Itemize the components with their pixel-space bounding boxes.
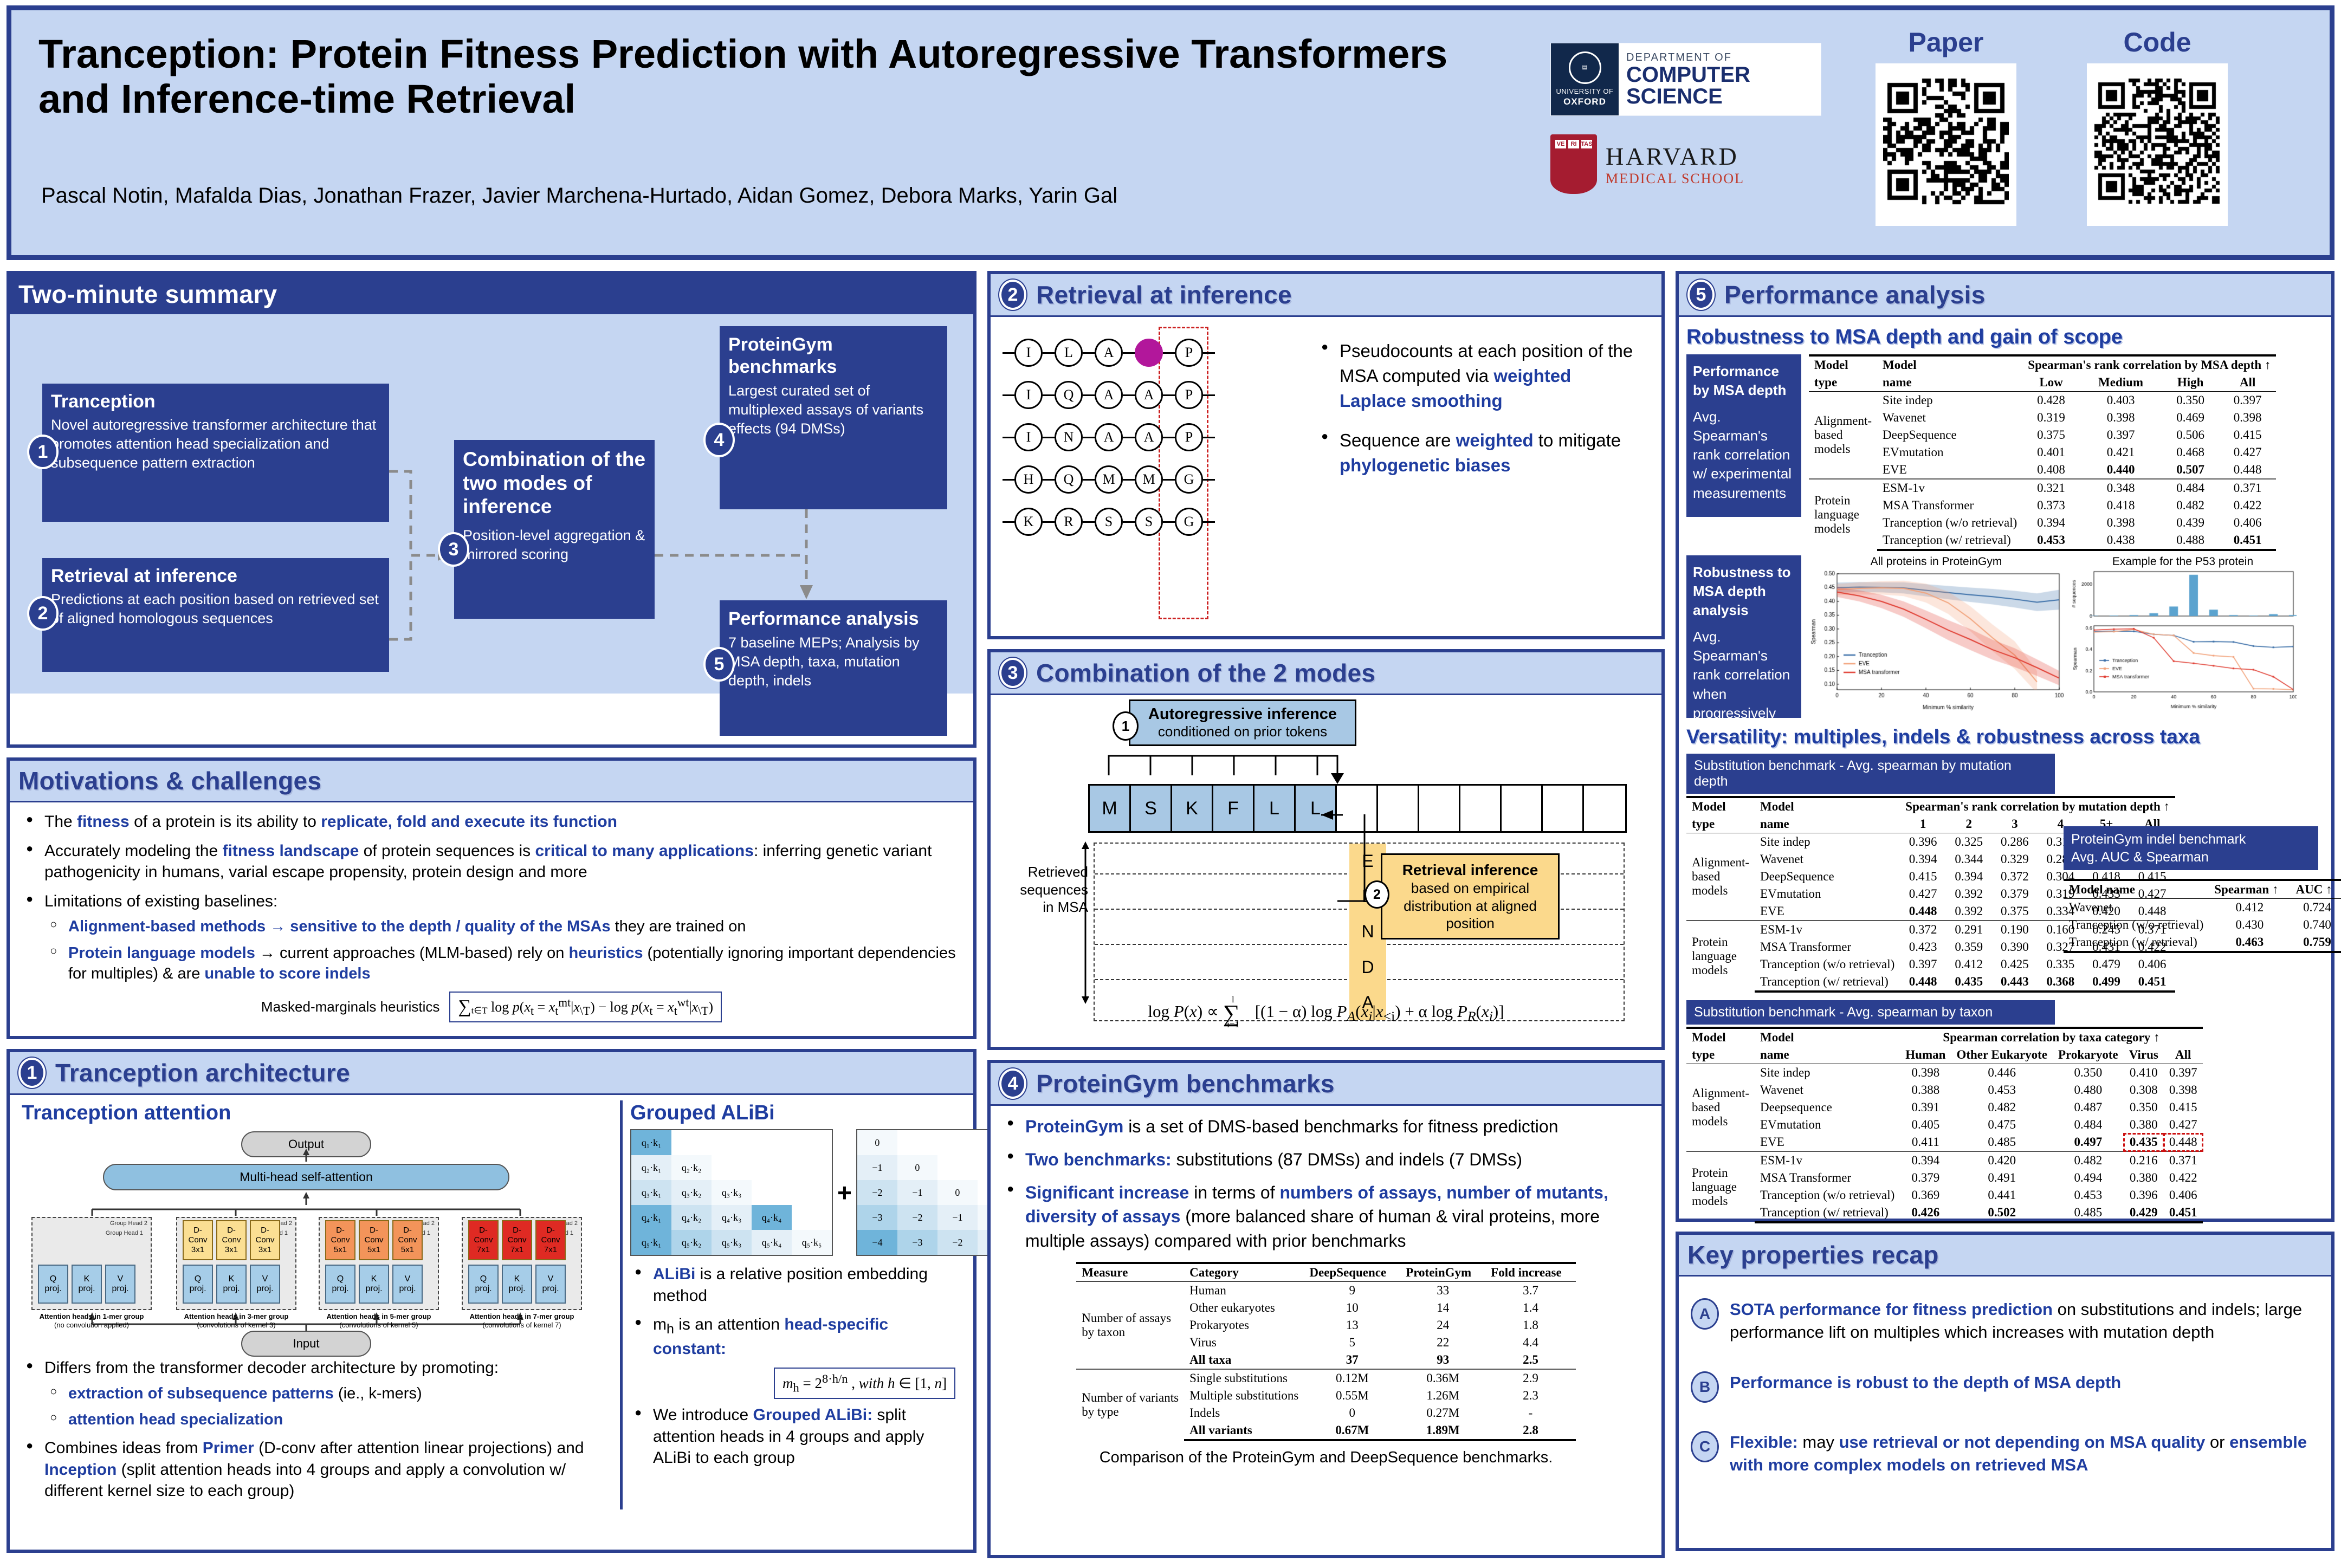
attention-head-column: D-Conv7x1K proj.: [502, 1220, 532, 1304]
cell-value: 0.325: [1946, 833, 1992, 851]
proteingym-badge: 4: [999, 1068, 1026, 1099]
msa-residue: A: [1095, 423, 1123, 451]
column-header: type: [1686, 815, 1755, 833]
attention-head-column: D-Conv7x1V proj.: [535, 1220, 566, 1304]
motivations-body: The fitness of a protein is its ability …: [10, 802, 973, 1031]
motivation-bullet: Accurately modeling the fitness landscap…: [22, 840, 961, 883]
cell-category: Other eukaryotes: [1184, 1299, 1304, 1317]
cell-model-name: Tranception (w/ retrieval): [1877, 532, 2022, 550]
attention-heads: D-Conv5x1Q proj.D-Conv5x1K proj.D-Conv5x…: [325, 1220, 423, 1304]
autoregressive-arrow-icon: [991, 747, 1630, 785]
column-header: DeepSequence: [1304, 1263, 1400, 1282]
oxford-line3: SCIENCE: [1626, 86, 1813, 107]
sequence-link: [1083, 521, 1095, 523]
cell-value: 3.7: [1485, 1281, 1576, 1299]
matrix-cell: q₃·k₁: [631, 1180, 671, 1205]
cell-value: 0.439: [2162, 514, 2219, 532]
cell-model-name: Wavenet: [2064, 899, 2209, 917]
cell-value: 0.27M: [1400, 1404, 1485, 1422]
middle-column: 2 Retrieval at inference ILAPIQAAPINAAPH…: [987, 271, 1665, 1568]
aligned-residue: N: [1361, 922, 1374, 942]
cell-model-name: MSA Transformer: [1755, 938, 1900, 956]
alibi-matrices: q₁·k₁q₂·k₁q₂·k₂q₃·k₁q₃·k₂q₃·k₃q₄·k₁q₄·k₂…: [630, 1129, 955, 1256]
summary-box-5: Performance analysis 7 baseline MEPs; An…: [720, 600, 947, 736]
attention-head-column: D-Conv5x1Q proj.: [325, 1220, 355, 1304]
cell-category: All taxa: [1184, 1351, 1304, 1369]
sequence-link: [1003, 479, 1014, 481]
motivation-subbullet: Alignment-based methods → sensitive to t…: [44, 916, 961, 937]
cell-value: 0.405: [1900, 1116, 1951, 1133]
cell-value: 0.468: [2162, 444, 2219, 461]
architecture-bullets: Differs from the transformer decoder arc…: [22, 1357, 612, 1502]
autoregressive-callout-desc: conditioned on prior tokens: [1138, 723, 1347, 740]
cell-value: 0.397: [2080, 426, 2162, 444]
row-group-label: Alignment-basedmodels: [1686, 1064, 1755, 1152]
qr-code-block[interactable]: Code: [2087, 27, 2228, 226]
combination-badge: 3: [999, 658, 1026, 688]
recap-text: Performance is robust to the depth of MS…: [1730, 1371, 2121, 1394]
cell-value: 0.506: [2162, 426, 2219, 444]
architecture-bullet-1: Differs from the transformer decoder arc…: [22, 1357, 612, 1430]
cell-value: 0.397: [1900, 956, 1946, 973]
matrix-cell: [752, 1155, 792, 1180]
cell-value: 0.427: [1900, 885, 1946, 903]
alibi-qk-matrix: q₁·k₁q₂·k₁q₂·k₂q₃·k₁q₃·k₂q₃·k₃q₄·k₁q₄·k₂…: [630, 1129, 833, 1256]
chart-all-proteins: All proteins in ProteinGym: [1809, 555, 2064, 718]
matrix-cell: q₄·k₄: [752, 1205, 792, 1230]
cell-value: 0.394: [1946, 868, 1992, 885]
column-header: Model: [1755, 1028, 1900, 1046]
matrix-cell: [671, 1130, 712, 1155]
msa-depth-side-label: Performance by MSA depth Avg. Spearman's…: [1686, 354, 1801, 517]
dconv-block: D-Conv3x1: [250, 1220, 280, 1260]
matrix-cell: q₄·k₃: [712, 1205, 752, 1230]
cell-value: 22: [1400, 1334, 1485, 1351]
autoregressive-callout-badge: 1: [1113, 711, 1139, 741]
projection-block: V proj.: [250, 1265, 280, 1304]
summary-box-3: Combination of the two modes of inferenc…: [454, 440, 655, 619]
dconv-block: D-Conv5x1: [325, 1220, 355, 1260]
summary-box-3-desc: Position-level aggregation & mirrored sc…: [463, 526, 646, 564]
row-group-label: Proteinlanguagemodels: [1809, 479, 1877, 550]
cell-value: 0.373: [2022, 497, 2080, 514]
proteingym-caption: Comparison of the ProteinGym and DeepSeq…: [1003, 1449, 1650, 1467]
msa-residue: M: [1135, 465, 1163, 494]
cell-value: 0.427: [2219, 444, 2277, 461]
cell-value: 0.488: [2162, 532, 2219, 550]
summary-box-2-desc: Predictions at each position based on re…: [51, 590, 380, 628]
cell-value: 1.4: [1485, 1299, 1576, 1317]
alibi-bullet: We introduce Grouped ALiBi: split attent…: [630, 1404, 955, 1469]
cell-value: 0.482: [2162, 497, 2219, 514]
attention-group-caption: Attention heads in 5-mer group(convoluti…: [319, 1312, 439, 1330]
chart-p53-canvas: [2069, 568, 2297, 714]
architecture-left-subtitle: Tranception attention: [22, 1102, 612, 1125]
sequence-link: [1003, 437, 1014, 438]
cell-value: 0.448: [2219, 461, 2277, 479]
panel-combination: 3 Combination of the 2 modes Autoregress…: [987, 649, 1665, 1050]
architecture-divider: [620, 1100, 623, 1509]
summary-box-1-title: Tranception: [51, 391, 380, 412]
dconv-block: D-Conv7x1: [502, 1220, 532, 1260]
architecture-badge: 1: [18, 1058, 46, 1088]
msa-sequence-row: IQAAP: [1003, 381, 1306, 409]
taxon-caption: Substitution benchmark - Avg. spearman b…: [1686, 1000, 2055, 1025]
qr-paper-block[interactable]: Paper: [1876, 27, 2016, 226]
matrix-cell: q₃·k₂: [671, 1180, 712, 1205]
projection-block: K proj.: [72, 1265, 102, 1304]
matrix-cell: q₂·k₂: [671, 1155, 712, 1180]
column-header: type: [1809, 374, 1877, 392]
cell-value: 0.321: [2022, 479, 2080, 497]
cell-value: 10: [1304, 1299, 1400, 1317]
matrix-cell: [712, 1155, 752, 1180]
qr-paper-code[interactable]: [1876, 63, 2016, 226]
attention-group-caption: Attention heads in 1-mer group(no convol…: [31, 1312, 152, 1330]
projection-block: Q proj.: [325, 1265, 355, 1304]
group-head-1-label: Group Head 1: [106, 1230, 143, 1236]
cell-value: 0.379: [1992, 885, 2038, 903]
sequence-link: [1163, 521, 1175, 523]
retrieval-badge: 2: [999, 280, 1026, 310]
projection-block: V proj.: [392, 1265, 423, 1304]
msa-residue: G: [1175, 508, 1203, 536]
chart-p53: Example for the P53 protein: [2069, 555, 2297, 718]
cell-value: 0.441: [1951, 1187, 2053, 1204]
sequence-link: [1123, 437, 1135, 438]
matrix-cell: [712, 1130, 752, 1155]
indel-caption: ProteinGym indel benchmark Avg. AUC & Sp…: [2064, 826, 2318, 870]
combination-title: Combination of the 2 modes: [1036, 658, 1375, 688]
attention-head-column: D-Conv3x1K proj.: [216, 1220, 247, 1304]
cell-value: 0.430: [2209, 916, 2290, 934]
cell-value: 0.398: [1900, 1064, 1951, 1082]
column-header: Model name: [2064, 880, 2209, 899]
msa-residue: P: [1175, 381, 1203, 409]
versatility-right: ProteinGym indel benchmark Avg. AUC & Sp…: [2064, 754, 2318, 1223]
cell-value: 2.9: [1485, 1369, 1576, 1387]
matrix-cell: q₅·k₅: [792, 1230, 832, 1255]
table-row: Tranception (w/ retrieval)0.4530.4380.48…: [1809, 532, 2276, 550]
cell-category: Human: [1184, 1281, 1304, 1299]
panel-retrieval: 2 Retrieval at inference ILAPIQAAPINAAPH…: [987, 271, 1665, 639]
table-row: Wavenet0.3190.3980.4690.398: [1809, 409, 2276, 426]
cell-value: 0.443: [1992, 973, 2038, 992]
architecture-subbullets: extraction of subsequence patterns (ie.,…: [44, 1383, 612, 1430]
attention-group-caption: Attention heads in 3-mer group(convoluti…: [176, 1312, 296, 1330]
retrieval-bullet: Pseudocounts at each position of the MSA…: [1317, 339, 1642, 414]
row-group-label: Number of assays by taxon: [1076, 1281, 1184, 1369]
cell-value: 5: [1304, 1334, 1400, 1351]
sequence-link: [1163, 479, 1175, 481]
proteingym-header: 4 ProteinGym benchmarks: [991, 1063, 1661, 1106]
attention-group-box: Group Head 2Group Head 1D-Conv3x1Q proj.…: [176, 1217, 296, 1310]
msa-residue: N: [1055, 423, 1083, 451]
cell-value: 13: [1304, 1317, 1400, 1334]
column-header: Medium: [2080, 374, 2162, 392]
alibi-formula: mh = 28·h/n , with h ∈ [1, n]: [774, 1368, 955, 1399]
table-row: MSA Transformer0.3730.4180.4820.422: [1809, 497, 2276, 514]
attention-head-column: D-Conv7x1Q proj.: [468, 1220, 499, 1304]
cell-value: 0.475: [1951, 1116, 2053, 1133]
sequence-link: [1083, 437, 1095, 438]
msa-sequence-row: KRSSG: [1003, 508, 1306, 536]
cell-value: 0.401: [2022, 444, 2080, 461]
sequence-link: [1123, 479, 1135, 481]
cell-value: 0.451: [2219, 532, 2277, 550]
cell-category: All variants: [1184, 1422, 1304, 1440]
msa-residue: R: [1055, 508, 1083, 536]
attention-head-column: D-Conv3x1V proj.: [250, 1220, 280, 1304]
projection-block: K proj.: [502, 1265, 532, 1304]
cell-value: 0.391: [1900, 1099, 1951, 1116]
sequence-link: [1163, 352, 1175, 354]
column-header: name: [1755, 1046, 1900, 1064]
attention-group-box: Group Head 2Group Head 1D-Conv7x1Q proj.…: [462, 1217, 582, 1310]
sequence-link: [1043, 352, 1055, 354]
attention-group-box: Group Head 2Group Head 1D-Conv5x1Q proj.…: [319, 1217, 439, 1310]
matrix-cell: [792, 1155, 832, 1180]
cell-value: 0.392: [1946, 903, 1992, 921]
attention-head-column: D-Conv5x1K proj.: [359, 1220, 389, 1304]
summary-badge-3: 3: [438, 532, 469, 567]
cell-value: 0.12M: [1304, 1369, 1400, 1387]
autoregressive-callout: Autoregressive inference conditioned on …: [1129, 699, 1356, 746]
performance-badge: 5: [1687, 280, 1715, 310]
panel-recap: Key properties recap ASOTA performance f…: [1676, 1232, 2334, 1551]
cell-value: 0.396: [1900, 833, 1946, 851]
summary-box-1: Tranception Novel autoregressive transfo…: [42, 384, 389, 522]
cell-model-name: ESM-1v: [1755, 921, 1900, 938]
cell-value: 0.440: [2080, 461, 2162, 479]
cell-value: 93: [1400, 1351, 1485, 1369]
msa-residue: Q: [1055, 465, 1083, 494]
cell-value: 0.394: [2022, 514, 2080, 532]
table-row: Tranception (w/o retrieval)0.4300.740: [2064, 916, 2341, 934]
cell-value: 0.359: [1946, 938, 1992, 956]
matrix-cell: q₅·k₂: [671, 1230, 712, 1255]
projection-block: Q proj.: [183, 1265, 213, 1304]
column-header: High: [2162, 374, 2219, 392]
cell-value: 0.724: [2290, 899, 2341, 917]
oxford-logo: ▤ UNIVERSITY OF OXFORD DEPARTMENT OF COM…: [1550, 43, 1821, 116]
table-row: ProteinlanguagemodelsESM-1v0.3210.3480.4…: [1809, 479, 2276, 497]
diagram-input-node: Input: [241, 1331, 371, 1357]
cell-category: Indels: [1184, 1404, 1304, 1422]
msa-residue: Q: [1055, 381, 1083, 409]
cell-model-name: Site indep: [1755, 833, 1900, 851]
panel-performance: 5 Performance analysis Robustness to MSA…: [1676, 271, 2334, 1222]
proteingym-title: ProteinGym benchmarks: [1036, 1069, 1335, 1098]
cell-value: 0.415: [2219, 426, 2277, 444]
summary-title: Two-minute summary: [18, 280, 277, 309]
cell-value: 0.319: [2022, 409, 2080, 426]
column-header: Low: [2022, 374, 2080, 392]
cell-value: 0.426: [1900, 1204, 1951, 1222]
sequence-token: [1584, 786, 1625, 831]
cell-value: 0.453: [2022, 532, 2080, 550]
right-column: 5 Performance analysis Robustness to MSA…: [1676, 271, 2334, 1561]
cell-value: 9: [1304, 1281, 1400, 1299]
msa-residue: A: [1135, 381, 1163, 409]
cell-value: 0.372: [1992, 868, 2038, 885]
matrix-cell: [752, 1180, 792, 1205]
chart-all-proteins-title: All proteins in ProteinGym: [1809, 555, 2064, 568]
matrix-cell: [937, 1155, 978, 1180]
matrix-cell: q₅·k₁: [631, 1230, 671, 1255]
table-header-row: Model nameSpearman ↑AUC ↑: [2064, 880, 2341, 899]
performance-header: 5 Performance analysis: [1679, 274, 2331, 317]
architecture-left: Tranception attention Output Multi-head …: [22, 1100, 612, 1509]
msa-residue: M: [1095, 465, 1123, 494]
masked-marginals-label: Masked-marginals heuristics: [261, 999, 439, 1015]
summary-box-5-title: Performance analysis: [728, 608, 939, 630]
sequence-link: [1003, 352, 1014, 354]
panel-two-minute-summary: Two-minute summary Tranception Novel aut…: [7, 271, 977, 748]
harvard-wordmark: HARVARD MEDICAL SCHOOL: [1606, 142, 1744, 187]
cell-category: Virus: [1184, 1334, 1304, 1351]
matrix-cell: q₅·k₃: [712, 1230, 752, 1255]
cell-value: 0.350: [2162, 392, 2219, 410]
attention-heads: Q proj.K proj.V proj.: [38, 1265, 135, 1304]
cell-value: 0.36M: [1400, 1369, 1485, 1387]
sequence-link: [1203, 394, 1215, 396]
table-row: EVmutation0.4010.4210.4680.427: [1809, 444, 2276, 461]
motivation-sublist: Alignment-based methods → sensitive to t…: [44, 916, 961, 984]
msa-residue: I: [1014, 339, 1043, 367]
cell-value: 0.448: [1900, 973, 1946, 992]
architecture-bullet-2: Combines ideas from Primer (D-conv after…: [22, 1437, 612, 1502]
attention-group: Group Head 2Group Head 1Q proj.K proj.V …: [31, 1217, 152, 1330]
author-list: Pascal Notin, Mafalda Dias, Jonathan Fra…: [41, 184, 1504, 208]
cell-value: 0.421: [2080, 444, 2162, 461]
summary-badge-4: 4: [703, 423, 735, 457]
attention-head-column: Q proj.: [38, 1265, 68, 1304]
harvard-school: MEDICAL SCHOOL: [1606, 171, 1744, 187]
qr-code-code[interactable]: [2087, 63, 2228, 226]
projection-block: V proj.: [105, 1265, 135, 1304]
oxford-crest-icon: ▤ UNIVERSITY OF OXFORD: [1551, 43, 1619, 115]
cell-value: 0.418: [2080, 497, 2162, 514]
qr-code-label: Code: [2124, 27, 2191, 58]
group-head-2-label: Group Head 2: [110, 1220, 147, 1227]
cell-model-name: Site indep: [1877, 392, 2022, 410]
matrix-cell: −1: [937, 1205, 978, 1230]
cell-value: 0.507: [2162, 461, 2219, 479]
alibi-bullet: ALiBi is a relative position embedding m…: [630, 1264, 955, 1306]
retrieval-bullet: Sequence are weighted to mitigate phylog…: [1317, 428, 1642, 478]
cell-value: -: [1485, 1404, 1576, 1422]
cell-model-name: EVmutation: [1755, 885, 1900, 903]
attention-group-caption: Attention heads in 7-mer group(convoluti…: [462, 1312, 582, 1330]
cell-value: 0.463: [2209, 934, 2290, 952]
attention-group: Group Head 2Group Head 1D-Conv5x1Q proj.…: [319, 1217, 439, 1330]
cell-value: 2.8: [1485, 1422, 1576, 1440]
cell-value: 0.435: [1946, 973, 1992, 992]
sequence-link: [1043, 479, 1055, 481]
proteingym-bullet: Two benchmarks: substitutions (87 DMSs) …: [1003, 1148, 1650, 1172]
cell-value: 0.344: [1946, 851, 1992, 868]
column-header: Measure: [1076, 1263, 1184, 1282]
sequence-link: [1203, 521, 1215, 523]
matrix-cell: 0: [857, 1130, 897, 1155]
cell-category: Prokaryotes: [1184, 1317, 1304, 1334]
projection-block: Q proj.: [468, 1265, 499, 1304]
matrix-cell: [752, 1130, 792, 1155]
combination-header: 3 Combination of the 2 modes: [991, 652, 1661, 695]
sequence-link: [1043, 521, 1055, 523]
msa-residue: I: [1014, 423, 1043, 451]
dconv-block: D-Conv5x1: [392, 1220, 423, 1260]
msa-residue: P: [1175, 423, 1203, 451]
attention-head-column: D-Conv5x1V proj.: [392, 1220, 423, 1304]
attention-group-box: Group Head 2Group Head 1Q proj.K proj.V …: [31, 1217, 152, 1310]
row-group-label: Alignment-basedmodels: [1686, 833, 1755, 921]
sequence-token: [1502, 786, 1543, 831]
cell-model-name: Tranception (w/o retrieval): [1755, 1187, 1900, 1204]
matrix-cell: −1: [897, 1180, 937, 1205]
msa-residue: S: [1135, 508, 1163, 536]
chart-p53-title: Example for the P53 protein: [2069, 555, 2297, 568]
retrieval-callout-badge: 2: [1364, 880, 1389, 909]
attention-head-column: D-Conv3x1Q proj.: [183, 1220, 213, 1304]
harvard-motto-2: RI: [1568, 140, 1579, 148]
dconv-block: D-Conv3x1: [183, 1220, 213, 1260]
logo-group: ▤ UNIVERSITY OF OXFORD DEPARTMENT OF COM…: [1550, 43, 1832, 199]
cell-model-name: EVE: [1877, 461, 2022, 479]
oxford-crest-bottom: OXFORD: [1563, 96, 1606, 107]
cell-value: 1.8: [1485, 1317, 1576, 1334]
msa-residue: A: [1095, 339, 1123, 367]
proteingym-comparison-table: MeasureCategoryDeepSequenceProteinGymFol…: [1076, 1262, 1575, 1441]
alibi-formula-wrap: mh = 28·h/n , with h ∈ [1, n]: [630, 1368, 955, 1399]
panel-motivations: Motivations & challenges The fitness of …: [7, 757, 977, 1039]
column-header: ProteinGym: [1400, 1263, 1485, 1282]
cell-value: 0.502: [1951, 1204, 2053, 1222]
cell-value: 0: [1304, 1404, 1400, 1422]
cell-value: 0.428: [2022, 392, 2080, 410]
cell-value: 0.423: [1900, 938, 1946, 956]
projection-block: Q proj.: [38, 1265, 68, 1304]
cell-value: 33: [1400, 1281, 1485, 1299]
architecture-body: Tranception attention Output Multi-head …: [10, 1095, 973, 1518]
cell-model-name: Tranception (w/ retrieval): [1755, 973, 1900, 992]
column-header: Fold increase: [1485, 1263, 1576, 1282]
msa-depth-block: Performance by MSA depth Avg. Spearman's…: [1686, 354, 2324, 551]
matrix-cell: [937, 1130, 978, 1155]
cell-model-name: Site indep: [1755, 1064, 1900, 1082]
cell-value: 1.26M: [1400, 1387, 1485, 1404]
summary-box-3-title: Combination of the two modes of inferenc…: [463, 448, 646, 519]
msa-residue: S: [1095, 508, 1123, 536]
recap-header: Key properties recap: [1679, 1235, 2331, 1277]
robustness-charts: All proteins in ProteinGym Example for t…: [1809, 555, 2297, 718]
summary-badge-5: 5: [703, 647, 735, 682]
matrix-cell: q₁·k₁: [631, 1130, 671, 1155]
table-row: DeepSequence0.3750.3970.5060.415: [1809, 426, 2276, 444]
cell-model-name: MSA Transformer: [1755, 1169, 1900, 1187]
sequence-link: [1083, 352, 1095, 354]
sequence-link: [1043, 437, 1055, 438]
table-row: Tranception (w/o retrieval)0.3940.3980.4…: [1809, 514, 2276, 532]
cell-value: 1.89M: [1400, 1422, 1485, 1440]
cell-model-name: Tranception (w/o retrieval): [1877, 514, 2022, 532]
recap-text: SOTA performance for fitness prediction …: [1730, 1298, 2319, 1343]
msa-depth-table: ModelModelSpearman's rank correlation by…: [1809, 354, 2276, 551]
cell-value: 0.485: [1951, 1133, 2053, 1151]
matrix-cell: 0: [937, 1180, 978, 1205]
cell-category: Multiple substitutions: [1184, 1387, 1304, 1404]
